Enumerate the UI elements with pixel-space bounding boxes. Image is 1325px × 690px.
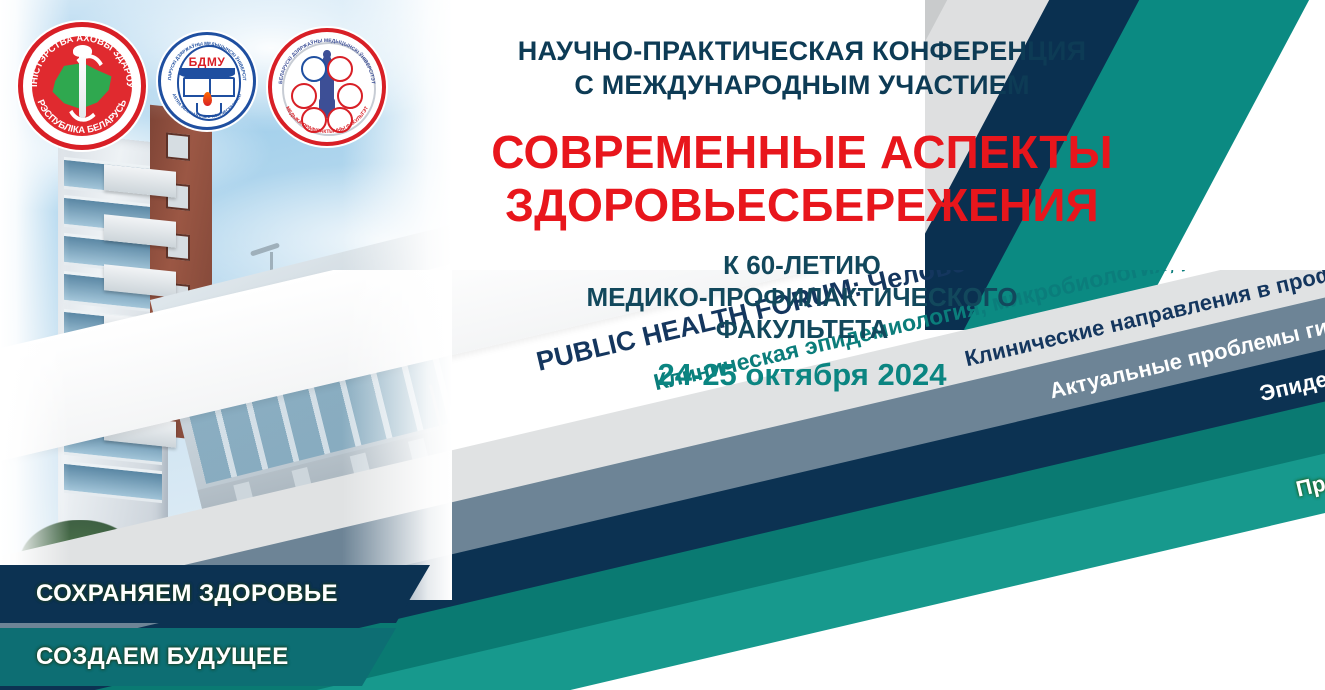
emblem-ring-text: МІНІСТЭРСТВА АХОВЫ ЗДАРОЎЯ РЭСПУБЛІКА БЕ…	[23, 27, 141, 145]
conference-kicker: НАУЧНО-ПРАКТИЧЕСКАЯ КОНФЕРЕНЦИЯ С МЕЖДУН…	[452, 34, 1152, 102]
kicker-line-1: НАУЧНО-ПРАКТИЧЕСКАЯ КОНФЕРЕНЦИЯ	[452, 34, 1152, 68]
page-title: СОВРЕМЕННЫЕ АСПЕКТЫ ЗДОРОВЬЕСБЕРЕЖЕНИЯ	[452, 126, 1152, 233]
slogan-group: СОХРАНЯЕМ ЗДОРОВЬЕ СОЗДАЕМ БУДУЩЕЕ	[0, 565, 430, 690]
ministry-of-health-belarus-emblem: МІНІСТЭРСТВА АХОВЫ ЗДАРОЎЯ РЭСПУБЛІКА БЕ…	[18, 22, 146, 150]
slogan-banner-preserve-health: СОХРАНЯЕМ ЗДОРОВЬЕ	[0, 565, 430, 623]
poster-text-block: НАУЧНО-ПРАКТИЧЕСКАЯ КОНФЕРЕНЦИЯ С МЕЖДУН…	[452, 34, 1152, 393]
subtitle-line-3: ФАКУЛЬТЕТА	[452, 313, 1152, 345]
emblem-ring-text: БЕЛАРУСКІ ДЗЯРЖАЎНЫ МЕДЫЦЫНСКІ ЎНІВЕРСІТ…	[161, 35, 253, 127]
subtitle-line-2: МЕДИКО-ПРОФИЛАКТИЧЕСКОГО	[452, 281, 1152, 313]
topic-band-label: Эпидемиология и микробиология	[1257, 297, 1325, 407]
topic-band-label: Профилактическая медицина	[1294, 403, 1325, 503]
conference-poster: БЕЛАРУСКІ ДЗЯРЖАЎНЫ МЕДЫЦЫНСКІ ЎНІВЕРСІТ…	[0, 0, 1325, 690]
emblem-row: МІНІСТЭРСТВА АХОВЫ ЗДАРОЎЯ РЭСПУБЛІКА БЕ…	[18, 22, 386, 150]
emblem-ring-text: БЕЛАРУСКІ ДЗЯРЖАЎНЫ МЕДЫЦЫНСКІ ЎНІВЕРСІТ…	[272, 32, 382, 142]
conference-date: 24-25 октября 2024	[452, 357, 1152, 393]
svg-text:РЭСПУБЛІКА БЕЛАРУСЬ: РЭСПУБЛІКА БЕЛАРУСЬ	[35, 98, 130, 136]
slogan-banner-create-future: СОЗДАЕМ БУДУЩЕЕ	[0, 628, 430, 686]
title-line-1: СОВРЕМЕННЫЕ АСПЕКТЫ	[452, 126, 1152, 179]
bsmu-emblem: БДМУ БЕЛАРУСКІ ДЗЯРЖАЎНЫ МЕДЫЦЫНСКІ ЎНІВ…	[158, 32, 256, 130]
svg-text:БЕЛАРУСКІ ДЗЯРЖАЎНЫ МЕДЫЦЫНСКІ: БЕЛАРУСКІ ДЗЯРЖАЎНЫ МЕДЫЦЫНСКІ ЎНІВЕРСІТ…	[161, 35, 247, 81]
svg-text:МЕДЫКА-ПРАФІЛАКТЫЧНЫ ФАКУЛЬТЭТ: МЕДЫКА-ПРАФІЛАКТЫЧНЫ ФАКУЛЬТЭТ	[284, 106, 370, 136]
anniversary-subtitle: К 60-ЛЕТИЮ МЕДИКО-ПРОФИЛАКТИЧЕСКОГО ФАКУ…	[452, 249, 1152, 346]
title-line-2: ЗДОРОВЬЕСБЕРЕЖЕНИЯ	[452, 179, 1152, 232]
svg-text:ASTRA INCLINANT, SED NON NECES: ASTRA INCLINANT, SED NON NECESSITANT	[171, 92, 242, 119]
svg-text:БЕЛАРУСКІ ДЗЯРЖАЎНЫ МЕДЫЦЫНСКІ: БЕЛАРУСКІ ДЗЯРЖАЎНЫ МЕДЫЦЫНСКІ ЎНІВЕРСІТ…	[278, 38, 376, 85]
svg-text:МІНІСТЭРСТВА АХОВЫ ЗДАРОЎЯ: МІНІСТЭРСТВА АХОВЫ ЗДАРОЎЯ	[23, 27, 136, 88]
medical-prophylactic-faculty-emblem: БЕЛАРУСКІ ДЗЯРЖАЎНЫ МЕДЫЦЫНСКІ ЎНІВЕРСІТ…	[268, 28, 386, 146]
subtitle-line-1: К 60-ЛЕТИЮ	[452, 249, 1152, 281]
kicker-line-2: С МЕЖДУНАРОДНЫМ УЧАСТИЕМ	[452, 68, 1152, 102]
